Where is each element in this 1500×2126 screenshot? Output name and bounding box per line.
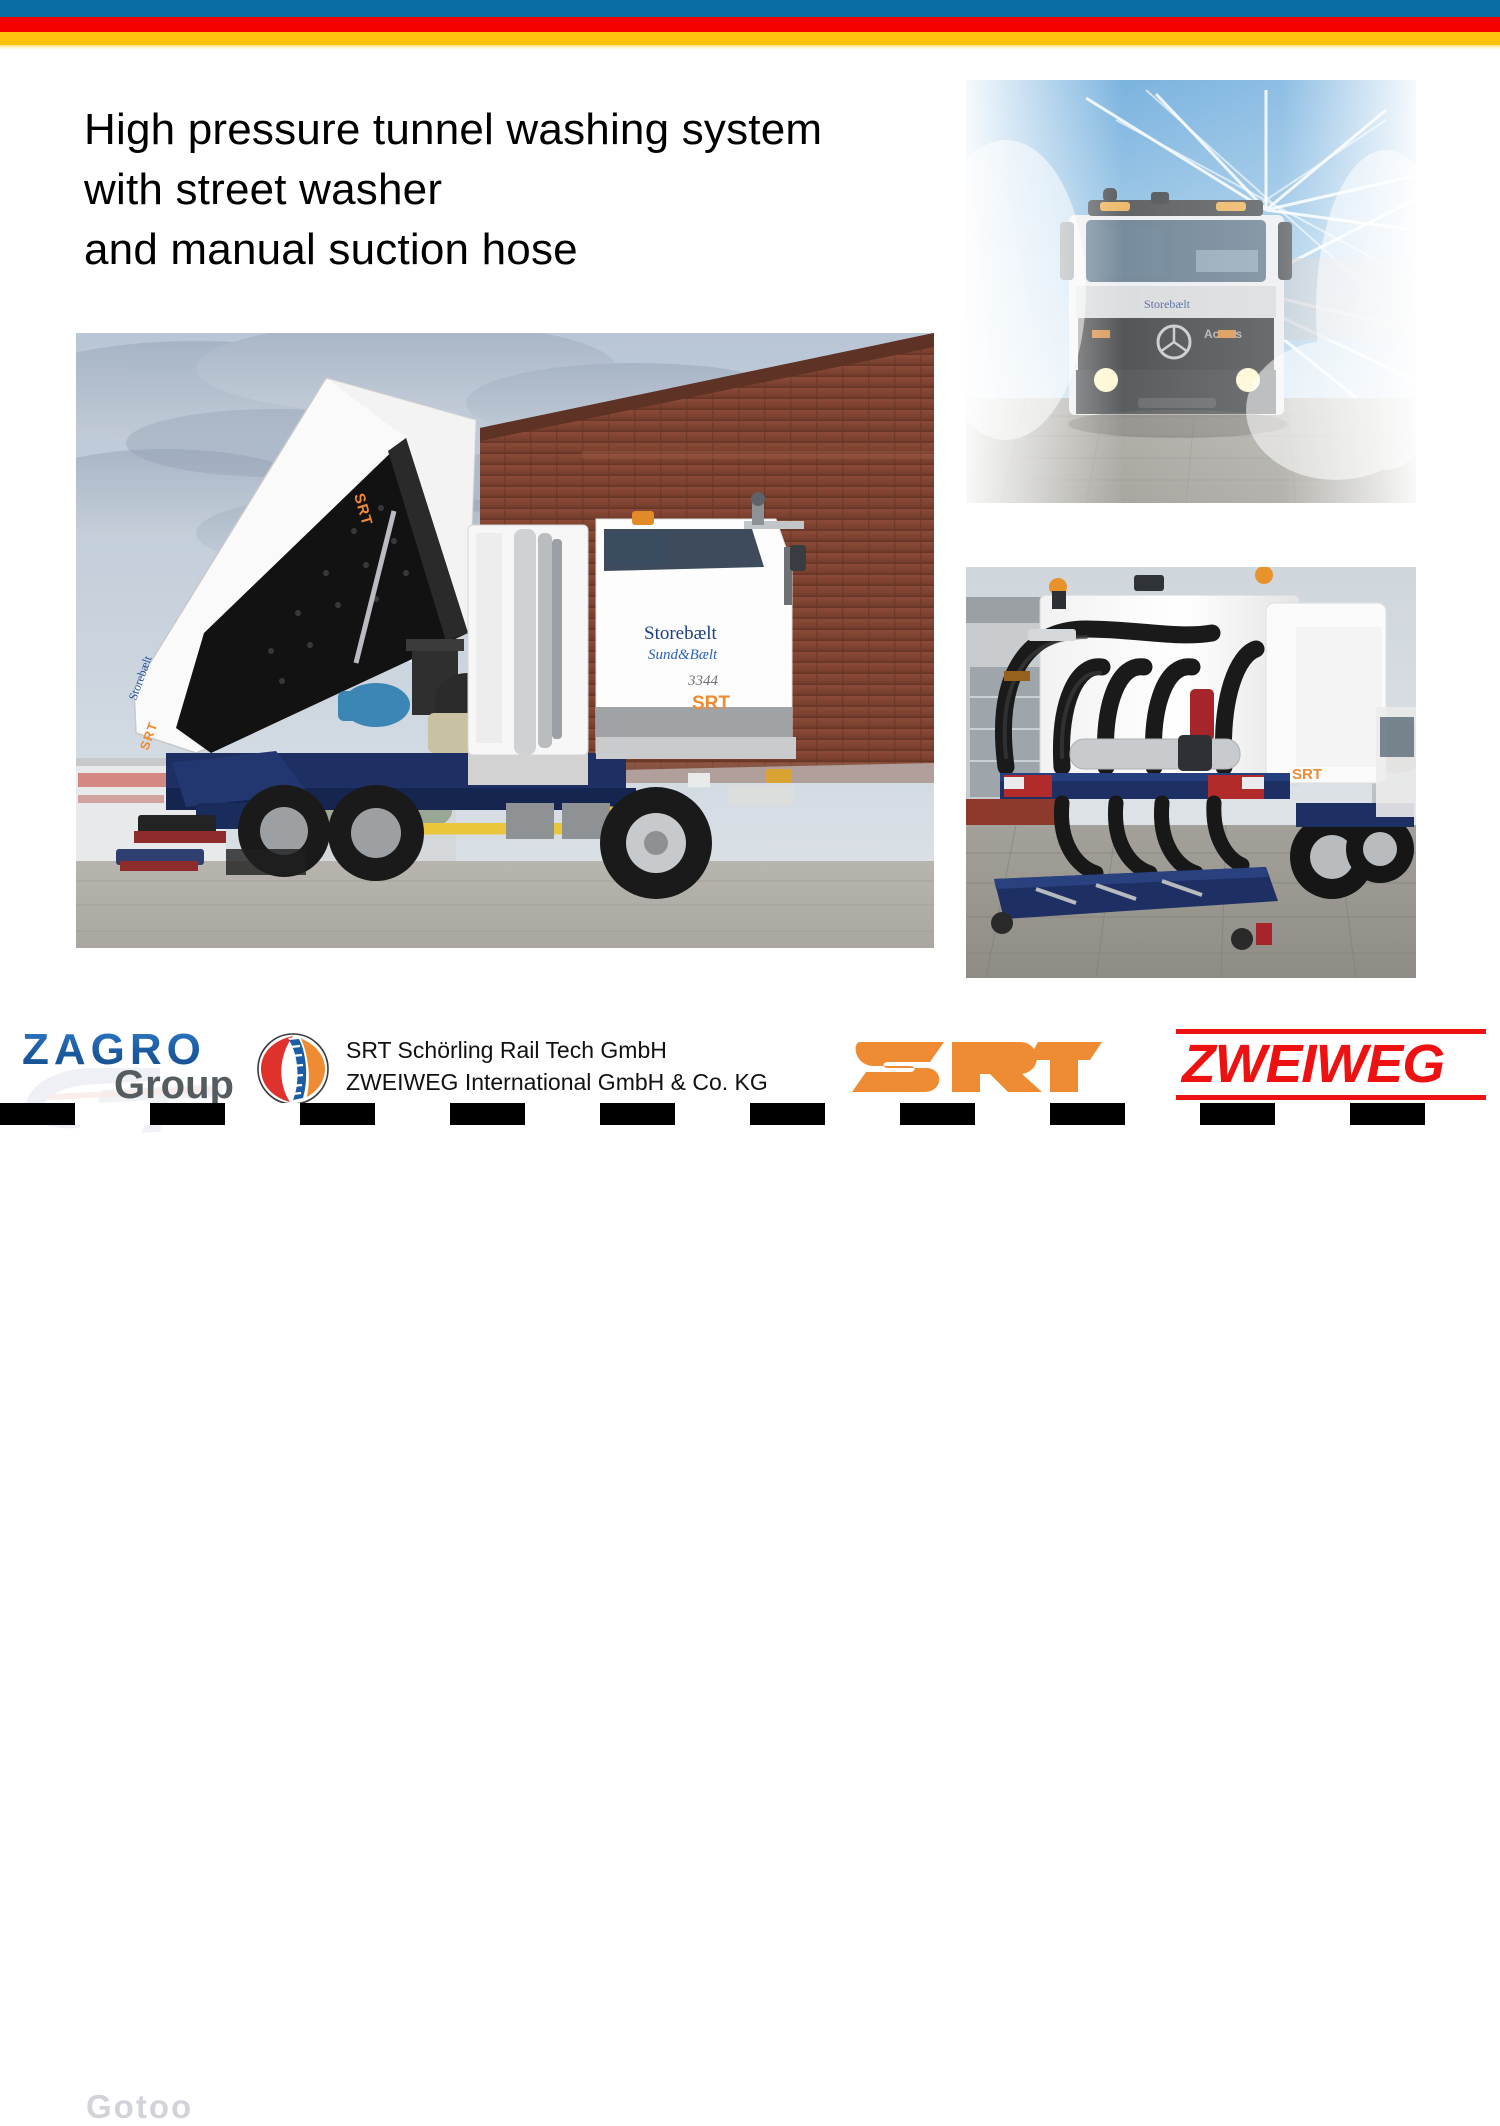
checker-cell	[1350, 1103, 1425, 1125]
checker-cell	[75, 1103, 150, 1125]
checker-cell	[750, 1103, 825, 1125]
zagro-group-word: Group	[114, 1064, 234, 1106]
checker-cell	[1200, 1103, 1275, 1125]
photo-main-artwork: SRT SRT Storebælt	[76, 333, 934, 948]
zagro-group-logo: ZAGRO Group	[18, 1028, 243, 1106]
banner-stripe-yellow	[0, 32, 1500, 45]
checkered-bottom-strip	[0, 1103, 1500, 1125]
checker-cell	[675, 1103, 750, 1125]
gotoo-watermark-text: Gotoo	[86, 2088, 193, 2126]
banner-stripe-red	[0, 17, 1500, 32]
photo-truck-rear-suction-hoses: SRT	[966, 567, 1416, 978]
top-color-banner	[0, 0, 1500, 48]
srt-circular-emblem-icon	[256, 1032, 330, 1106]
checker-cell	[225, 1103, 300, 1125]
checker-cell	[1425, 1103, 1500, 1125]
srt-orange-wordmark-icon	[852, 1026, 1102, 1100]
checker-cell	[375, 1103, 450, 1125]
photo-main-truck-tipped-body: SRT SRT Storebælt	[76, 333, 934, 948]
svg-text:Sund&Bælt: Sund&Bælt	[648, 647, 718, 663]
banner-stripe-fade	[0, 45, 1500, 49]
checker-cell	[600, 1103, 675, 1125]
checker-cell	[975, 1103, 1050, 1125]
svg-text:3344: 3344	[687, 673, 719, 689]
slide-title: High pressure tunnel washing system with…	[84, 100, 984, 280]
svg-text:Storebælt: Storebælt	[644, 623, 718, 644]
zweiweg-logo: ZWEIWEG	[1176, 1029, 1486, 1101]
checker-cell	[525, 1103, 600, 1125]
checker-cell	[150, 1103, 225, 1125]
checker-cell	[1275, 1103, 1350, 1125]
company-names-text: SRT Schörling Rail Tech GmbH ZWEIWEG Int…	[346, 1034, 768, 1098]
checker-cell	[1125, 1103, 1200, 1125]
svg-text:SRT: SRT	[692, 693, 730, 714]
photo-front-artwork: Storebælt Actros	[966, 80, 1416, 503]
checker-cell	[900, 1103, 975, 1125]
photo-truck-front-spraying: Storebælt Actros	[966, 80, 1416, 503]
checker-cell	[0, 1103, 75, 1125]
checker-cell	[300, 1103, 375, 1125]
svg-text:SRT: SRT	[1292, 766, 1322, 783]
checker-cell	[450, 1103, 525, 1125]
checker-cell	[1050, 1103, 1125, 1125]
photo-rear-artwork: SRT	[966, 567, 1416, 978]
zweiweg-wordmark: ZWEIWEG	[1182, 1035, 1444, 1093]
zweiweg-bottom-rule	[1176, 1095, 1486, 1100]
checker-cell	[825, 1103, 900, 1125]
banner-stripe-blue	[0, 0, 1500, 17]
